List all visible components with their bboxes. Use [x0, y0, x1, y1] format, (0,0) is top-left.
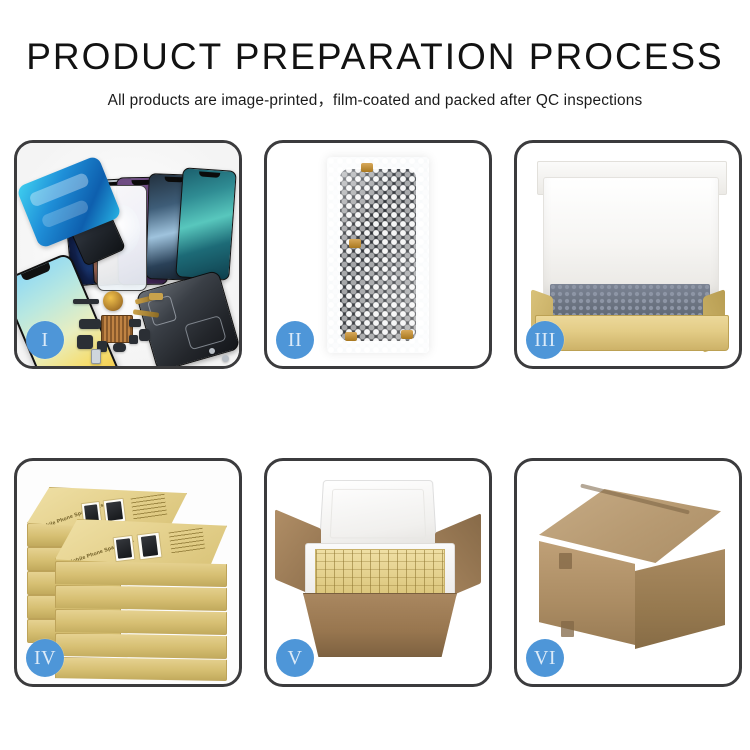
plastic-sheen [327, 157, 429, 353]
screw-icon-1 [222, 355, 229, 362]
box-side-b1 [55, 561, 227, 587]
carton-tape-upper [559, 553, 572, 569]
kraft-box-front [535, 315, 729, 351]
step-badge-3: III [526, 321, 564, 359]
carton-body-open [303, 593, 457, 657]
tape-icon-4 [401, 330, 413, 339]
box-side-b3 [55, 609, 227, 635]
step-badge-1: I [26, 321, 64, 359]
part-strip-1 [73, 299, 99, 304]
speaker-part-icon [103, 291, 123, 311]
tape-icon-1 [361, 163, 373, 172]
box-spec-lines-1 [131, 494, 168, 521]
part-block-1 [79, 319, 101, 329]
packed-boxes-icon [315, 549, 445, 595]
tape-icon-2 [349, 239, 361, 248]
header: PRODUCT PREPARATION PROCESS All products… [0, 0, 750, 110]
bubble-wrapped-screen [327, 157, 429, 353]
box-side-b5 [55, 657, 227, 681]
process-step-grid: I II [14, 140, 746, 687]
sim-tray-icon [91, 349, 101, 364]
step-panel-1[interactable]: I [14, 140, 242, 369]
step-badge-5: V [276, 639, 314, 677]
connector-icon [149, 293, 163, 300]
page-subtitle: All products are image-printed，film-coat… [0, 88, 750, 110]
part-block-5 [129, 335, 138, 344]
box-side-b2 [55, 585, 227, 611]
product-preparation-infographic: PRODUCT PREPARATION PROCESS All products… [0, 0, 750, 750]
step-panel-6[interactable]: VI [514, 458, 742, 687]
step-panel-5[interactable]: V [264, 458, 492, 687]
foam-sheet-icon [543, 177, 719, 297]
part-block-6 [129, 319, 141, 327]
box-window-1b [103, 498, 127, 524]
carton-tape-lower [561, 621, 574, 637]
carton-front-face [539, 541, 635, 645]
part-block-2 [77, 335, 93, 349]
phone-1-icon [175, 167, 237, 280]
screw-icon-2 [209, 348, 215, 354]
step-panel-3[interactable]: III [514, 140, 742, 369]
part-block-7 [139, 329, 150, 341]
box-top-2: Mobile Phone Spare Parts [55, 519, 227, 567]
box-spec-lines-2 [169, 528, 206, 555]
tape-icon-3 [345, 332, 357, 341]
step-badge-2: II [276, 321, 314, 359]
page-title: PRODUCT PREPARATION PROCESS [0, 38, 750, 75]
box-window-2a [113, 535, 136, 562]
box-window-2b [137, 532, 163, 561]
step-badge-4: IV [26, 639, 64, 677]
part-block-4 [113, 343, 126, 352]
box-side-b4 [55, 633, 227, 659]
step-badge-6: VI [526, 639, 564, 677]
carton-side-face [635, 549, 725, 649]
step-panel-2[interactable]: II [264, 140, 492, 369]
foam-lid-icon [319, 480, 437, 549]
step-panel-4[interactable]: Mobile Phone Spare Parts Mobile Phone Sp… [14, 458, 242, 687]
